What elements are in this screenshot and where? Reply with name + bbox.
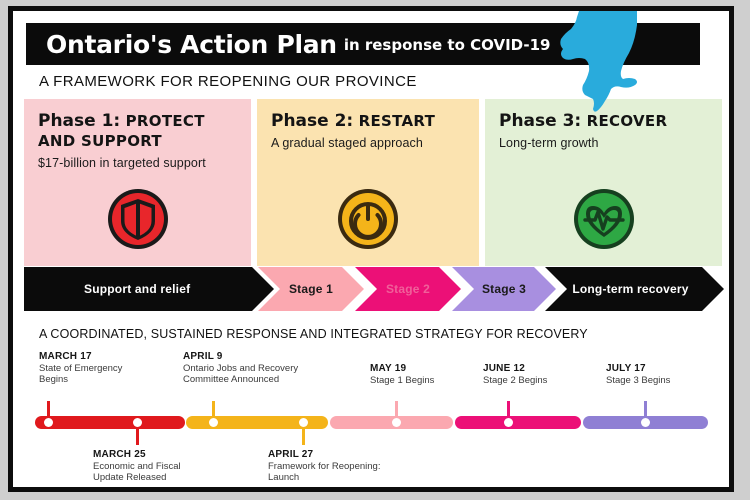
page-title: Ontario's Action Plan — [46, 30, 337, 59]
magenta-segment — [455, 416, 581, 429]
phase-3-sub: Long-term growth — [499, 136, 708, 150]
phase-panel-1: Phase 1: PROTECT AND SUPPORT $17-billion… — [24, 99, 251, 266]
framework-subtitle: A FRAMEWORK FOR REOPENING OUR PROVINCE — [39, 73, 417, 90]
phase-panel-2: Phase 2: RESTART A gradual staged approa… — [257, 99, 479, 266]
timeline-date-may-19: MAY 19 — [370, 363, 490, 375]
shield-badge-icon — [106, 187, 170, 251]
timeline-text-march-17-line1: State of Emergency — [39, 363, 179, 375]
phase-2-sub: A gradual staged approach — [271, 136, 465, 150]
phase-2-heading: Phase 2: RESTART — [271, 111, 465, 131]
timeline-date-march-25: MARCH 25 — [93, 449, 253, 461]
timeline-stem-march-25 — [136, 429, 139, 445]
timeline-date-april-9: APRIL 9 — [183, 351, 343, 363]
power-button-icon — [336, 187, 400, 251]
stage-2-chevron: Stage 2 — [355, 267, 461, 311]
heart-pulse-icon — [572, 187, 636, 251]
timeline-dot-march-17 — [44, 418, 53, 427]
progression-band: Support and relief Stage 1 Stage 2 Stage… — [24, 267, 724, 311]
phase-1-label: Phase 1: — [38, 111, 120, 131]
page-subtitle: in response to COVID-19 — [344, 36, 551, 54]
phase-1-heading: Phase 1: PROTECT AND SUPPORT — [38, 111, 237, 151]
timeline-label-may-19: MAY 19 Stage 1 Begins — [370, 363, 490, 386]
band-left-label: Support and relief — [84, 282, 190, 296]
timeline-text-april-9-line2: Committee Announced — [183, 374, 343, 386]
band-right-label: Long-term recovery — [572, 282, 688, 296]
timeline-stem-april-27 — [302, 429, 305, 445]
phase-2-label: Phase 2: — [271, 111, 353, 131]
timeline-text-june-12: Stage 2 Begins — [483, 375, 603, 387]
timeline-text-may-19: Stage 1 Begins — [370, 375, 490, 387]
phase-2-name: RESTART — [359, 112, 436, 130]
ontario-map-icon — [549, 11, 659, 116]
phase-1-sub: $17-billion in targeted support — [38, 156, 237, 170]
timeline-label-july-17: JULY 17 Stage 3 Begins — [606, 363, 726, 386]
stage-3-label: Stage 3 — [482, 282, 526, 296]
timeline-label-april-27: APRIL 27 Framework for Reopening: Launch — [268, 449, 448, 484]
infographic-poster: Ontario's Action Plan in response to COV… — [8, 6, 734, 492]
phase-1-name-line2: AND SUPPORT — [38, 132, 162, 150]
stage-2-label: Stage 2 — [386, 282, 430, 296]
timeline-dot-april-27 — [299, 418, 308, 427]
phase-panels: Phase 1: PROTECT AND SUPPORT $17-billion… — [18, 99, 734, 266]
timeline-heading: A COORDINATED, SUSTAINED RESPONSE AND IN… — [39, 327, 588, 341]
stage-3-chevron: Stage 3 — [452, 267, 556, 311]
timeline-text-july-17: Stage 3 Begins — [606, 375, 726, 387]
timeline-text-march-17-line2: Begins — [39, 374, 179, 386]
timeline-label-april-9: APRIL 9 Ontario Jobs and Recovery Commit… — [183, 351, 343, 386]
timeline-dot-may-19 — [392, 418, 401, 427]
timeline-text-april-27-line1: Framework for Reopening: — [268, 461, 448, 473]
timeline-label-march-25: MARCH 25 Economic and Fiscal Update Rele… — [93, 449, 253, 484]
timeline-dot-april-9 — [209, 418, 218, 427]
timeline-dot-march-25 — [133, 418, 142, 427]
timeline-text-april-9-line1: Ontario Jobs and Recovery — [183, 363, 343, 375]
stage-1-label: Stage 1 — [289, 282, 333, 296]
timeline-label-june-12: JUNE 12 Stage 2 Begins — [483, 363, 603, 386]
timeline-text-april-27-line2: Launch — [268, 472, 448, 484]
timeline-text-march-25-line1: Economic and Fiscal — [93, 461, 253, 473]
timeline-date-april-27: APRIL 27 — [268, 449, 448, 461]
timeline-date-june-12: JUNE 12 — [483, 363, 603, 375]
band-support-and-relief: Support and relief — [24, 267, 274, 311]
timeline-dot-july-17 — [641, 418, 650, 427]
timeline-date-march-17: MARCH 17 — [39, 351, 179, 363]
timeline-date-july-17: JULY 17 — [606, 363, 726, 375]
timeline-text-march-25-line2: Update Released — [93, 472, 253, 484]
timeline-label-march-17: MARCH 17 State of Emergency Begins — [39, 351, 179, 386]
phase-panel-3: Phase 3: RECOVER Long-term growth — [485, 99, 722, 266]
phase-1-name-line1: PROTECT — [126, 112, 205, 130]
band-long-term-recovery: Long-term recovery — [545, 267, 724, 311]
red-segment — [35, 416, 185, 429]
timeline-dot-june-12 — [504, 418, 513, 427]
